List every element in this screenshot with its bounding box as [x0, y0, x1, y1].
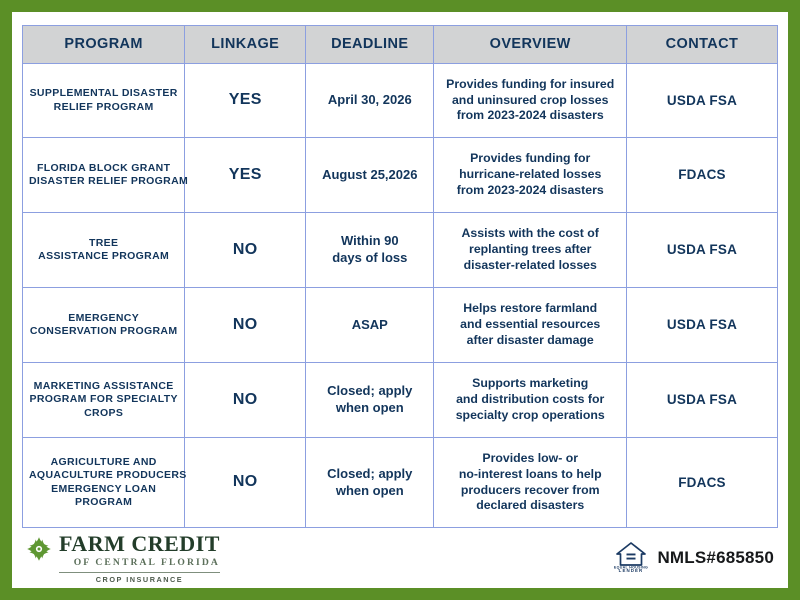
column-header-program: PROGRAM — [23, 26, 185, 64]
overview-line: no-interest loans to help — [440, 467, 620, 483]
equal-housing-lender-icon: EQUAL HOUSING LENDER — [614, 539, 648, 578]
brand-name: FARM CREDIT — [59, 533, 220, 555]
program-line: AQUACULTURE PRODUCERS — [29, 469, 178, 482]
table-row: SUPPLEMENTAL DISASTER RELIEF PROGRAM YES… — [23, 64, 778, 138]
overview-line: from 2023-2024 disasters — [440, 183, 620, 199]
table-body: SUPPLEMENTAL DISASTER RELIEF PROGRAM YES… — [23, 64, 778, 528]
brand-text-block: FARM CREDIT OF CENTRAL FLORIDA CROP INSU… — [59, 533, 220, 584]
program-line: RELIEF PROGRAM — [29, 101, 178, 114]
nmls-block: EQUAL HOUSING LENDER NMLS#685850 — [614, 539, 774, 578]
program-line: PROGRAM — [29, 496, 178, 509]
deadline-line: days of loss — [312, 250, 427, 267]
overview-line: and distribution costs for — [440, 392, 620, 408]
cell-contact: FDACS — [626, 138, 777, 213]
overview-line: from 2023-2024 disasters — [440, 108, 620, 124]
program-line: CONSERVATION PROGRAM — [29, 325, 178, 338]
overview-line: disaster-related losses — [440, 258, 620, 274]
cell-program: FLORIDA BLOCK GRANT DISASTER RELIEF PROG… — [23, 138, 185, 213]
nmls-number: NMLS#685850 — [657, 548, 774, 568]
overview-line: Assists with the cost of — [440, 226, 620, 242]
program-line: EMERGENCY LOAN — [29, 483, 178, 496]
deadline-line: August 25,2026 — [312, 167, 427, 184]
cell-overview: Supports marketing and distribution cost… — [434, 363, 627, 438]
overview-line: and essential resources — [440, 317, 620, 333]
cell-overview: Provides low- or no-interest loans to he… — [434, 438, 627, 528]
overview-line: replanting trees after — [440, 242, 620, 258]
column-header-linkage: LINKAGE — [185, 26, 306, 64]
table-header-row: PROGRAM LINKAGE DEADLINE OVERVIEW CONTAC… — [23, 26, 778, 64]
brand-subtitle: OF CENTRAL FLORIDA — [59, 558, 220, 568]
footer: FARM CREDIT OF CENTRAL FLORIDA CROP INSU… — [12, 528, 788, 588]
deadline-line: Within 90 — [312, 233, 427, 250]
overview-line: and uninsured crop losses — [440, 93, 620, 109]
column-header-deadline: DEADLINE — [306, 26, 434, 64]
cell-linkage: NO — [185, 288, 306, 363]
cell-deadline: Closed; apply when open — [306, 363, 434, 438]
program-line: SUPPLEMENTAL DISASTER — [29, 87, 178, 100]
cell-deadline: ASAP — [306, 288, 434, 363]
cell-program: MARKETING ASSISTANCE PROGRAM FOR SPECIAL… — [23, 363, 185, 438]
overview-line: after disaster damage — [440, 333, 620, 349]
program-line: EMERGENCY — [29, 312, 178, 325]
cell-deadline: Closed; apply when open — [306, 438, 434, 528]
cell-linkage: NO — [185, 438, 306, 528]
programs-table: PROGRAM LINKAGE DEADLINE OVERVIEW CONTAC… — [22, 25, 778, 528]
deadline-line: Closed; apply — [312, 466, 427, 483]
cell-deadline: Within 90 days of loss — [306, 213, 434, 288]
clover-star-icon — [24, 534, 54, 569]
table-row: EMERGENCY CONSERVATION PROGRAM NO ASAP H… — [23, 288, 778, 363]
cell-program: TREE ASSISTANCE PROGRAM — [23, 213, 185, 288]
program-line: TREE — [29, 237, 178, 250]
deadline-line: Closed; apply — [312, 383, 427, 400]
cell-linkage: YES — [185, 138, 306, 213]
cell-contact: USDA FSA — [626, 213, 777, 288]
program-line: CROPS — [29, 407, 178, 420]
cell-linkage: YES — [185, 64, 306, 138]
deadline-line: ASAP — [312, 317, 427, 334]
cell-program: AGRICULTURE AND AQUACULTURE PRODUCERS EM… — [23, 438, 185, 528]
poster-frame: PROGRAM LINKAGE DEADLINE OVERVIEW CONTAC… — [0, 0, 800, 600]
cell-program: EMERGENCY CONSERVATION PROGRAM — [23, 288, 185, 363]
table-row: AGRICULTURE AND AQUACULTURE PRODUCERS EM… — [23, 438, 778, 528]
cell-deadline: April 30, 2026 — [306, 64, 434, 138]
program-line: ASSISTANCE PROGRAM — [29, 250, 178, 263]
farm-credit-logo: FARM CREDIT OF CENTRAL FLORIDA CROP INSU… — [24, 533, 220, 584]
deadline-line: April 30, 2026 — [312, 92, 427, 109]
overview-line: Supports marketing — [440, 376, 620, 392]
cell-overview: Provides funding for hurricane-related l… — [434, 138, 627, 213]
cell-overview: Helps restore farmland and essential res… — [434, 288, 627, 363]
program-line: DISASTER RELIEF PROGRAM — [29, 175, 178, 188]
svg-text:LENDER: LENDER — [619, 568, 644, 573]
overview-line: Helps restore farmland — [440, 301, 620, 317]
overview-line: hurricane-related losses — [440, 167, 620, 183]
deadline-line: when open — [312, 483, 427, 500]
cell-deadline: August 25,2026 — [306, 138, 434, 213]
overview-line: declared disasters — [440, 498, 620, 514]
cell-linkage: NO — [185, 363, 306, 438]
cell-contact: USDA FSA — [626, 64, 777, 138]
column-header-contact: CONTACT — [626, 26, 777, 64]
table-row: FLORIDA BLOCK GRANT DISASTER RELIEF PROG… — [23, 138, 778, 213]
brand-divider — [59, 572, 220, 573]
cell-contact: USDA FSA — [626, 288, 777, 363]
overview-line: Provides low- or — [440, 451, 620, 467]
overview-line: Provides funding for insured — [440, 77, 620, 93]
program-line: MARKETING ASSISTANCE — [29, 380, 178, 393]
table-row: TREE ASSISTANCE PROGRAM NO Within 90 day… — [23, 213, 778, 288]
brand-tagline: CROP INSURANCE — [59, 576, 220, 583]
program-line: FLORIDA BLOCK GRANT — [29, 162, 178, 175]
cell-linkage: NO — [185, 213, 306, 288]
programs-table-container: PROGRAM LINKAGE DEADLINE OVERVIEW CONTAC… — [12, 12, 788, 528]
column-header-overview: OVERVIEW — [434, 26, 627, 64]
cell-program: SUPPLEMENTAL DISASTER RELIEF PROGRAM — [23, 64, 185, 138]
overview-line: Provides funding for — [440, 151, 620, 167]
table-header: PROGRAM LINKAGE DEADLINE OVERVIEW CONTAC… — [23, 26, 778, 64]
deadline-line: when open — [312, 400, 427, 417]
table-row: MARKETING ASSISTANCE PROGRAM FOR SPECIAL… — [23, 363, 778, 438]
cell-contact: FDACS — [626, 438, 777, 528]
cell-overview: Assists with the cost of replanting tree… — [434, 213, 627, 288]
program-line: PROGRAM FOR SPECIALTY — [29, 393, 178, 406]
overview-line: producers recover from — [440, 483, 620, 499]
cell-contact: USDA FSA — [626, 363, 777, 438]
program-line: AGRICULTURE AND — [29, 456, 178, 469]
poster-body: PROGRAM LINKAGE DEADLINE OVERVIEW CONTAC… — [12, 12, 788, 588]
cell-overview: Provides funding for insured and uninsur… — [434, 64, 627, 138]
overview-line: specialty crop operations — [440, 408, 620, 424]
